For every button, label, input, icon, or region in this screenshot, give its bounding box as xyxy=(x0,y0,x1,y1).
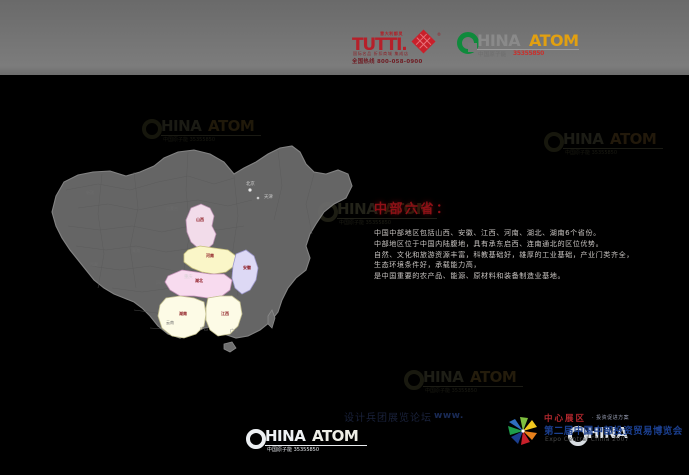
tianjin-marker xyxy=(257,197,260,200)
beijing-marker xyxy=(248,188,251,191)
region-label-sichuan: 四川 xyxy=(156,280,164,286)
slide-canvas: 意大利都灵 TUTTI. 国际名品 折扣商城 集成店 全国热线 800-058-… xyxy=(0,0,689,475)
registered-mark-icon: ® xyxy=(437,32,441,37)
content-paragraph-5: 是中国重要的农产品、能源、原材料和装备制造业基地。 xyxy=(374,271,674,282)
region-label-yunnan: 云南 xyxy=(166,320,174,326)
watermark-word-atom: ATOM xyxy=(610,130,656,148)
watermark-c-icon xyxy=(246,429,266,449)
tutti-logo: 意大利都灵 TUTTI. 国际名品 折扣商城 集成店 全国热线 800-058-… xyxy=(352,31,450,67)
hainan-island xyxy=(224,342,236,352)
watermark-word-hina: HINA xyxy=(265,427,305,445)
region-label-qinghai: 青海 xyxy=(132,248,140,254)
chinaatom-subtitle: 中国原子能 xyxy=(478,50,507,58)
region-label-xinjiang: 新疆 xyxy=(86,190,94,196)
province-label-henan: 河南 xyxy=(204,254,216,259)
watermark-word-hina: HINA xyxy=(161,117,201,135)
watermark-word-hina: HINA xyxy=(563,130,603,148)
watermark-word-atom: ATOM xyxy=(208,117,254,135)
tutti-logo-phone: 全国热线 800-058-0900 xyxy=(352,57,423,65)
content-paragraph-3: 自然、文化和旅游资源丰富，科教基础好，雄厚的工业基础，产业门类齐全， xyxy=(374,250,674,261)
forum-url-watermark: www. xyxy=(434,411,464,421)
region-label-guangdong: 广东 xyxy=(230,328,238,334)
region-label-xizang: 西藏 xyxy=(90,262,98,268)
watermark-word-hina: HINA xyxy=(423,368,463,386)
content-title: 中部六省： xyxy=(374,198,674,217)
city-label-tianjin: 天津 xyxy=(264,194,273,200)
content-paragraph-1: 中国中部地区包括山西、安徽、江西、河南、湖北、湖南6个省份。 xyxy=(374,228,674,239)
watermark-rule xyxy=(161,135,261,136)
watermark-subtitle: 中国原子能 35355850 xyxy=(565,149,617,156)
forum-watermark: 设计兵团展览论坛 xyxy=(344,409,432,424)
watermark-chinaatom-mid-right: HINA ATOM 中国原子能 35355850 xyxy=(544,130,674,162)
watermark-c-icon xyxy=(404,370,424,390)
city-label-chongqing: 重庆 xyxy=(184,274,193,280)
chinaatom-word-atom: ATOM xyxy=(529,31,579,50)
region-label-guangxi: 广西 xyxy=(200,326,208,332)
watermark-c-icon xyxy=(142,119,162,139)
content-paragraph-2: 中部地区位于中国内陆腹地，具有承东启西、连南通北的区位优势。 xyxy=(374,239,674,250)
content-block: 中部六省： 中国中部地区包括山西、安徽、江西、河南、湖北、湖南6个省份。 中部地… xyxy=(374,198,674,282)
watermark-word-atom: ATOM xyxy=(470,368,516,386)
watermark-chinaatom-bottom-left: HINA ATOM 中国原子能 35355850 xyxy=(246,427,381,459)
expo-line1-suffix: · 投资促进方案 xyxy=(592,414,629,421)
chinaatom-logo: HINA ATOM 中国原子能 35355850 xyxy=(457,30,579,64)
expo-logo: 中心展区 · 投资促进方案 第二届中国中部投资贸易博览会 Expo Centra… xyxy=(506,411,681,453)
province-label-hunan: 湖南 xyxy=(177,312,189,317)
chinaatom-hotline: 35355850 xyxy=(513,50,544,57)
tutti-diamond-icon xyxy=(411,29,435,53)
watermark-subtitle: 中国原子能 35355850 xyxy=(425,387,477,394)
watermark-chinaatom-bottom-right: HINA ATOM 中国原子能 35355850 xyxy=(404,368,534,400)
china-map: 山西 河南 安徽 湖北 湖南 江西 北京 天津 重庆 新疆 西藏 青海 内蒙古 … xyxy=(38,138,368,373)
watermark-rule xyxy=(265,445,367,446)
expo-line3: Expo Central China 2007 xyxy=(545,436,629,443)
province-label-hubei: 湖北 xyxy=(193,279,205,284)
watermark-c-icon xyxy=(544,132,564,152)
chinaatom-word-hina: HINA xyxy=(477,31,520,50)
province-label-shanxi: 山西 xyxy=(194,218,206,223)
province-label-anhui: 安徽 xyxy=(241,266,253,271)
header-band xyxy=(0,0,689,75)
content-paragraph-4: 生态环境条件好，承载能力高， xyxy=(374,260,674,271)
city-label-beijing: 北京 xyxy=(246,181,255,187)
watermark-subtitle: 中国原子能 35355850 xyxy=(267,446,319,453)
region-label-neimenggu: 内蒙古 xyxy=(166,206,178,212)
china-map-svg xyxy=(38,138,368,373)
pinwheel-icon xyxy=(506,415,540,447)
watermark-rule xyxy=(563,148,663,149)
province-label-jiangxi: 江西 xyxy=(219,312,231,317)
chinaatom-c-icon xyxy=(457,32,479,54)
watermark-rule xyxy=(423,386,523,387)
expo-line2: 第二届中国中部投资贸易博览会 xyxy=(544,423,683,437)
watermark-word-atom: ATOM xyxy=(312,427,358,445)
